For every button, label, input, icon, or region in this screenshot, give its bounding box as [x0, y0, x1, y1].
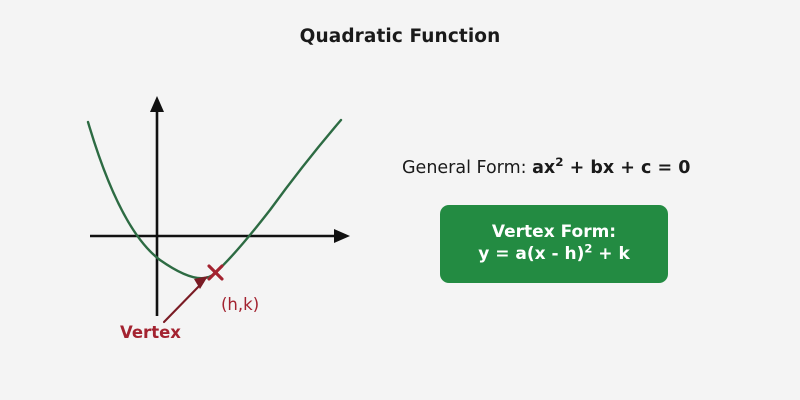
general-form-text: General Form: ax2 + bx + c = 0 — [402, 158, 690, 178]
x-axis — [90, 229, 350, 243]
general-form-expr-suffix: + bx + c = 0 — [563, 158, 690, 178]
general-form-label: General Form: — [402, 158, 527, 178]
graph-svg — [60, 90, 380, 370]
parabola-curve — [88, 120, 341, 278]
general-form-expr-prefix: ax — [532, 158, 555, 178]
vertex-form-expr-suffix: + k — [592, 244, 629, 264]
parabola-graph — [60, 90, 380, 370]
vertex-form-title: Vertex Form: — [492, 222, 616, 244]
vertex-form-expr-prefix: y = a(x - h) — [478, 244, 584, 264]
vertex-pointer-arrow — [164, 276, 208, 322]
vertex-form-box: Vertex Form: y = a(x - h)2 + k — [440, 205, 668, 283]
general-form-expression: ax2 + bx + c = 0 — [532, 158, 690, 178]
page-title: Quadratic Function — [0, 26, 800, 47]
vertex-annotation-label: Vertex — [120, 323, 181, 342]
vertex-form-expression: y = a(x - h)2 + k — [478, 244, 630, 266]
vertex-marker-x — [209, 266, 222, 279]
y-axis — [150, 96, 164, 316]
vertex-coordinates-label: (h,k) — [221, 295, 259, 314]
